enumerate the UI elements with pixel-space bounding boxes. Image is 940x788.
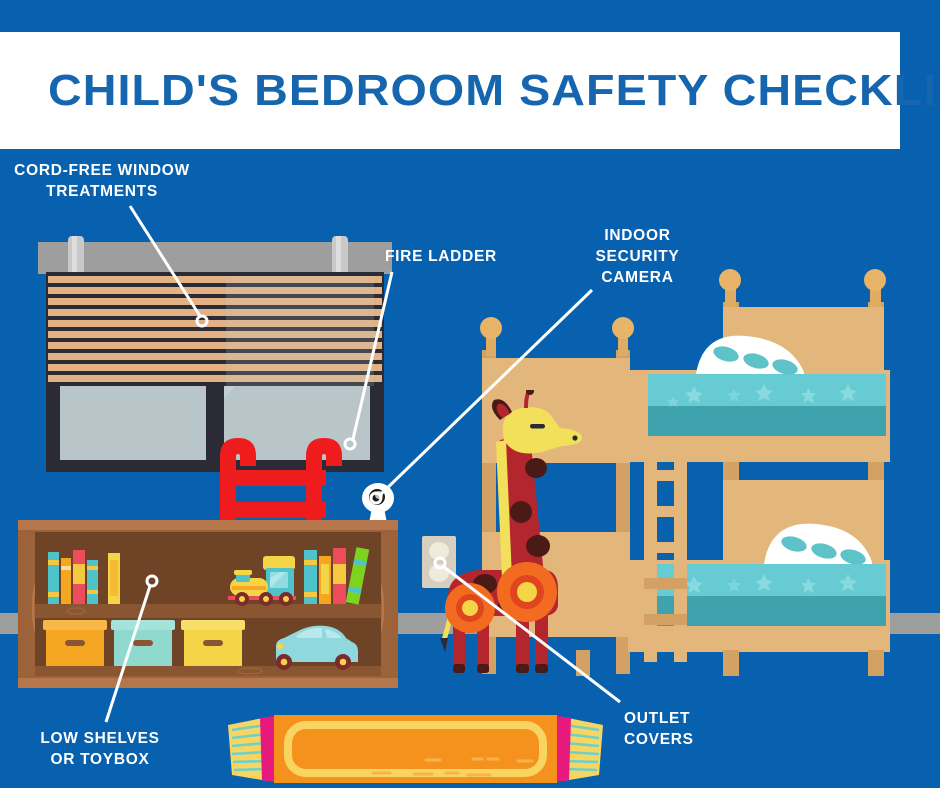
callout-label-cord-free-window-treatments: CORD-FREE WINDOW TREATMENTS [12, 160, 192, 202]
callout-label-low-shelves-or-toybox: LOW SHELVES OR TOYBOX [10, 728, 190, 770]
infographic-canvas: CHILD'S BEDROOM SAFETY CHECKLIST CORD-FR… [0, 0, 940, 788]
giraffe-pull-toy [430, 390, 610, 675]
storage-bin-yellow [181, 620, 245, 666]
book-group-right [304, 547, 369, 604]
storage-bin-mint [111, 620, 175, 666]
title-banner: CHILD'S BEDROOM SAFETY CHECKLIST [0, 32, 900, 149]
fire-escape-ladder [210, 432, 360, 528]
book-group-left [48, 550, 120, 604]
page-title: CHILD'S BEDROOM SAFETY CHECKLIST [48, 66, 940, 116]
callout-label-fire-ladder: FIRE LADDER [385, 246, 497, 267]
callout-label-outlet-covers: OUTLET COVERS [624, 708, 694, 750]
callout-label-indoor-security-camera: INDOOR SECURITY CAMERA [585, 225, 690, 288]
storage-bin-orange [43, 620, 107, 666]
bookshelf [18, 520, 398, 688]
floor-rug [218, 703, 613, 788]
